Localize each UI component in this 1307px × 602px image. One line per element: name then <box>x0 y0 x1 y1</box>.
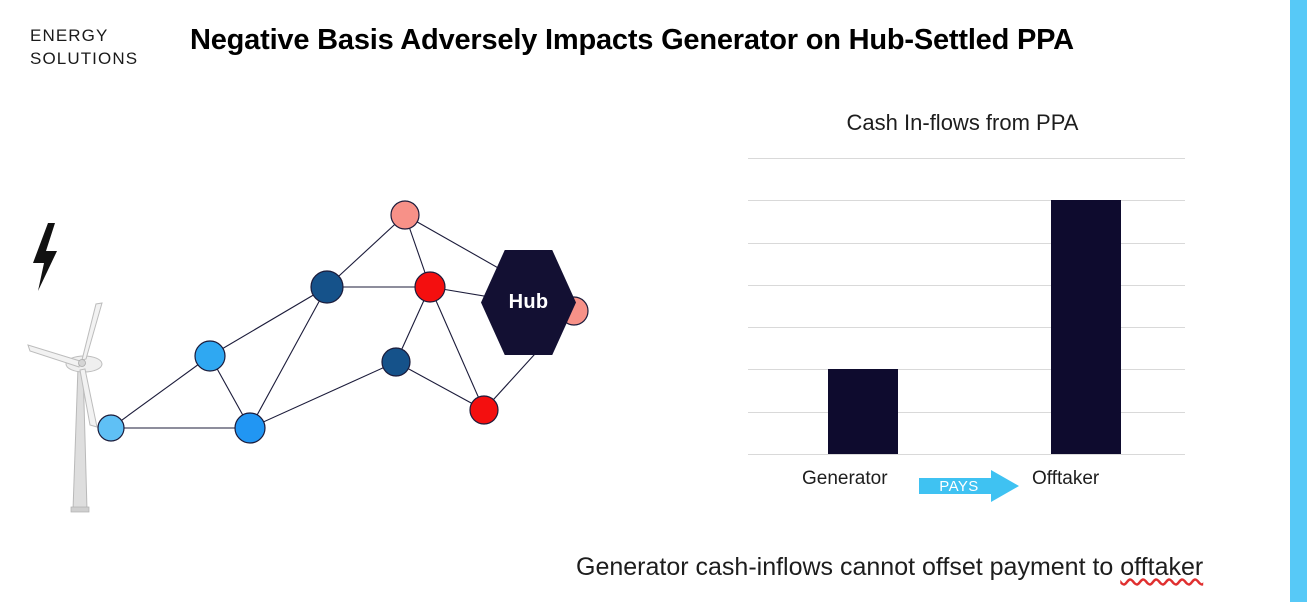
caption-misspelled-word: offtaker <box>1120 553 1203 581</box>
chart-title: Cash In-flows from PPA <box>740 110 1185 136</box>
pays-label: PAYS <box>919 470 999 502</box>
bar-chart: Cash In-flows from PPA Generator PAYS Of… <box>740 100 1200 520</box>
page-title: Negative Basis Adversely Impacts Generat… <box>190 24 1280 57</box>
network-node[interactable] <box>391 201 419 229</box>
network-node[interactable] <box>382 348 410 376</box>
brand-logo-line2: SOLUTIONS <box>30 47 190 70</box>
chart-bar[interactable] <box>1051 200 1121 454</box>
network-node[interactable] <box>235 413 265 443</box>
network-node[interactable] <box>470 396 498 424</box>
network-edge <box>250 287 327 428</box>
network-edge <box>111 356 210 428</box>
network-diagram: Hub <box>0 95 640 535</box>
network-edge <box>250 362 396 428</box>
caption: Generator cash-inflows cannot offset pay… <box>576 553 1203 582</box>
chart-gridline <box>748 158 1185 159</box>
network-edge <box>430 287 484 410</box>
caption-text: Generator cash-inflows cannot offset pay… <box>576 553 1120 581</box>
wind-turbine-icon <box>28 303 102 512</box>
category-label-generator: Generator <box>802 468 888 490</box>
chart-plot-area <box>748 158 1185 454</box>
brand-logo-line1: ENERGY <box>30 24 190 47</box>
network-edge <box>210 287 327 356</box>
network-node[interactable] <box>98 415 124 441</box>
brand-logo: ENERGY SOLUTIONS <box>30 24 190 70</box>
lightning-bolt-icon <box>33 223 57 291</box>
hub-label: Hub <box>481 250 576 355</box>
network-node[interactable] <box>311 271 343 303</box>
network-edge <box>396 362 484 410</box>
category-label-offtaker: Offtaker <box>1032 468 1099 490</box>
chart-bar[interactable] <box>828 369 898 454</box>
network-node[interactable] <box>195 341 225 371</box>
chart-category-axis: Generator PAYS Offtaker <box>740 468 1185 502</box>
chart-gridline <box>748 454 1185 455</box>
accent-strip <box>1290 0 1307 602</box>
network-node[interactable] <box>415 272 445 302</box>
